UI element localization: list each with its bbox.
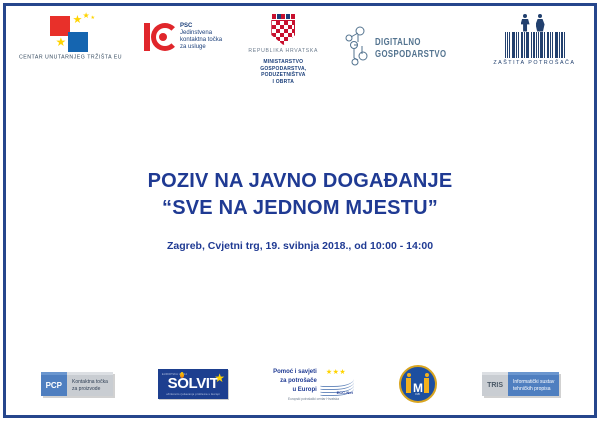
page-title-line-1: POZIV NA JAVNO DOGAĐANJE [6, 168, 594, 195]
logo-tris: TRIS Informatički sustav tehničkih propi… [482, 372, 559, 396]
imi-subtext: IMI [415, 392, 420, 396]
imi-inner-circle: M IMI [405, 372, 430, 397]
two-people-icon [514, 14, 556, 32]
digitalno-line-1: DIGITALNO [375, 37, 446, 49]
solvit-word-part-2: O [177, 375, 188, 392]
person-icon [521, 14, 530, 32]
star-icon: ★ [214, 372, 225, 384]
top-logo-strip: ★ ★ ★ ★ CENTAR UNUTARNJEG TRŽIŠTA EU PSC… [16, 14, 584, 98]
page-title-line-2: “SVE NA JEDNOM MJESTU” [6, 195, 594, 222]
star-icon: ★ [83, 12, 90, 20]
psc-text-block: PSC Jedinstvena kontaktna točka za uslug… [180, 23, 222, 51]
person-icon [406, 378, 411, 393]
digitalno-line-2: GOSPODARSTVO [375, 49, 446, 61]
eu-squares-stars-icon: ★ ★ ★ ★ [40, 14, 102, 52]
logo-solvit: EUROPSKA UNIJA SOLVIT ★ učinkovito rješa… [158, 369, 228, 399]
arcs-shape [320, 374, 354, 389]
ministry-name-block: MINISTARSTVO GOSPODARSTVA, PODUZETNIŠTVA… [260, 59, 306, 86]
ecc-line-1: Pomoć i savjeti [273, 368, 317, 377]
red-square-shape [50, 16, 70, 36]
country-label: REPUBLIKA HRVATSKA [248, 49, 318, 55]
poster: ★ ★ ★ ★ CENTAR UNUTARNJEG TRŽIŠTA EU PSC… [0, 0, 600, 421]
logo-centar-unutarnjeg-trzista-eu: ★ ★ ★ ★ CENTAR UNUTARNJEG TRŽIŠTA EU [35, 14, 106, 58]
ecc-label: ECC-Net [337, 390, 353, 395]
poster-frame: ★ ★ ★ ★ CENTAR UNUTARNJEG TRŽIŠTA EU PSC… [3, 3, 597, 418]
barcode-icon [505, 32, 565, 58]
logo-caption: ZAŠTITA POTROŠAČA [493, 60, 575, 66]
logo-imi: M IMI [399, 365, 437, 403]
star-icon: ★ [56, 36, 67, 48]
digitalno-text-block: DIGITALNO GOSPODARSTVO [375, 37, 467, 60]
person-icon [536, 14, 545, 32]
ministry-line-4: I OBRTA [260, 79, 306, 86]
announcement-block: POZIV NA JAVNO DOGAĐANJE “SVE NA JEDNOM … [6, 168, 594, 252]
network-nodes-icon [345, 24, 371, 73]
solvit-wordmark: SOLVIT [168, 376, 219, 391]
pcp-text-block: Kontaktna točka za proizvode [67, 372, 113, 396]
logo-caption: CENTAR UNUTARNJEG TRŽIŠTA EU [19, 54, 122, 60]
ecc-footnote: Europski potrošački centar Hrvatska [288, 397, 339, 401]
ministry-line-1: MINISTARSTVO [260, 59, 306, 66]
ecc-line-3: u Europi [273, 386, 317, 395]
psc-line-2: kontaktna točka [180, 37, 222, 44]
ecc-fan-icon: ★★★ ECC-Net [320, 368, 354, 394]
person-icon [424, 378, 429, 393]
tris-acronym: TRIS [482, 372, 508, 396]
star-icon: ★ [91, 16, 95, 21]
pcp-line-1: Kontaktna točka [72, 379, 108, 386]
psc-line-3: za usluge [180, 44, 222, 51]
ministry-line-3: PODUZETNIŠTVA [260, 72, 306, 79]
tris-text-block: Informatički sustav tehničkih propisa [508, 372, 559, 396]
ecc-text-block: Pomoć i savjeti za potrošače u Europi [273, 368, 317, 395]
crown-strip-shape [271, 14, 295, 19]
solvit-word-part-1: S [168, 375, 178, 392]
tris-line-1: Informatički sustav [513, 379, 554, 386]
logo-ecc-net: Pomoć i savjeti za potrošače u Europi ★★… [273, 368, 354, 401]
logo-pcp: PCP Kontaktna točka za proizvode [41, 372, 113, 396]
blue-square-shape [68, 32, 88, 52]
pcp-acronym: PCP [41, 372, 67, 396]
checkerboard-shield-shape [271, 20, 295, 45]
tris-line-2: tehničkih propisa [513, 386, 554, 393]
bottom-logo-strip: PCP Kontaktna točka za proizvode EUROPSK… [18, 361, 582, 407]
ecc-line-2: za potrošače [273, 377, 317, 386]
event-details: Zagreb, Cvjetni trg, 19. svibnja 2018., … [6, 240, 594, 252]
psc-c-mark-icon [144, 22, 174, 52]
star-icon: ★ [73, 15, 83, 26]
croatian-coat-of-arms-icon [270, 14, 296, 46]
psc-title: PSC [180, 23, 222, 30]
logo-digitalno-gospodarstvo: DIGITALNO GOSPODARSTVO [345, 24, 467, 73]
ecc-row: Pomoć i savjeti za potrošače u Europi ★★… [273, 368, 354, 395]
solvit-subtext: učinkovito rješavanje problema u Europi [166, 393, 220, 396]
pcp-line-2: za proizvode [72, 386, 108, 393]
logo-ministarstvo-gospodarstva: REPUBLIKA HRVATSKA MINISTARSTVO GOSPODAR… [260, 14, 307, 86]
psc-line-1: Jedinstvena [180, 30, 222, 37]
psc-bar-shape [144, 23, 150, 51]
logo-psc: PSC Jedinstvena kontaktna točka za uslug… [144, 22, 222, 52]
psc-dot-shape [159, 33, 167, 41]
logo-zastita-potrosaca: ZAŠTITA POTROŠAČA [504, 14, 565, 65]
